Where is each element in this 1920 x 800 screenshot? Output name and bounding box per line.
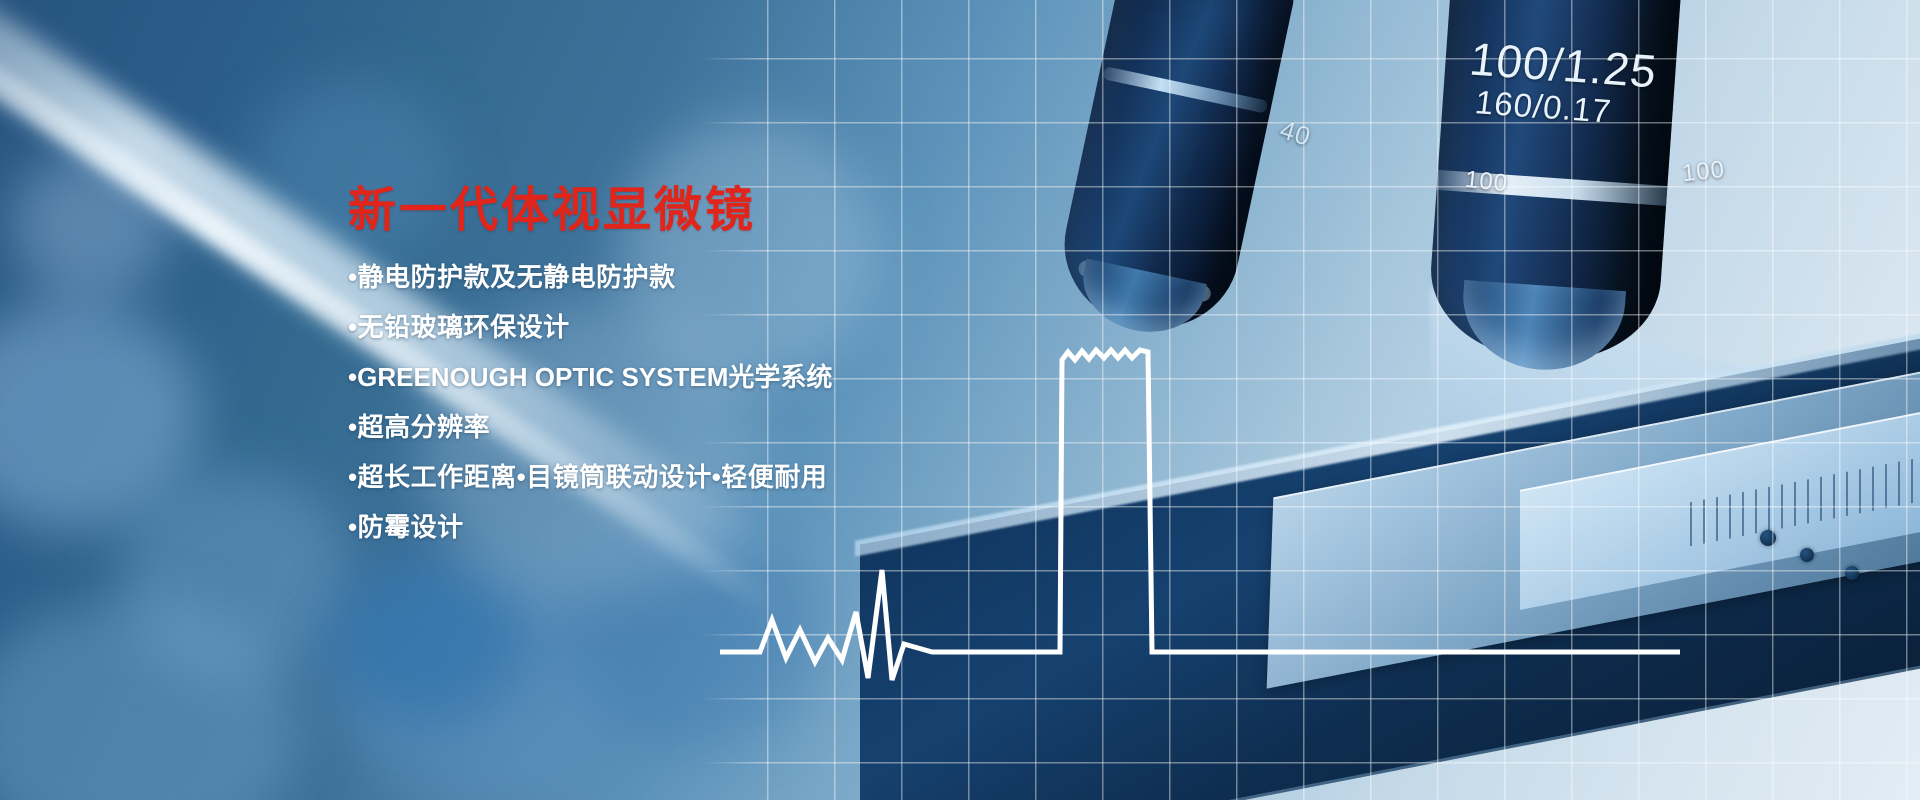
bokeh-blob (330, 560, 520, 720)
list-item: •GREENOUGH OPTIC SYSTEM光学系统 (348, 364, 988, 390)
page-title: 新一代体视显微镜 (348, 185, 988, 238)
list-item: •超长工作距离•目镜筒联动设计•轻便耐用 (348, 464, 988, 490)
copy-block: 新一代体视显微镜 •静电防护款及无静电防护款 •无铅玻璃环保设计 •GREENO… (348, 185, 988, 564)
list-item: •超高分辨率 (348, 414, 988, 440)
feature-list: •静电防护款及无静电防护款 •无铅玻璃环保设计 •GREENOUGH OPTIC… (348, 264, 988, 540)
list-item: •防霉设计 (348, 514, 988, 540)
list-item: •静电防护款及无静电防护款 (348, 264, 988, 290)
promo-banner: 100/1.25 160/0.17 40 100 100 新一代体视显微镜 •静… (0, 0, 1920, 800)
list-item: •无铅玻璃环保设计 (348, 314, 988, 340)
